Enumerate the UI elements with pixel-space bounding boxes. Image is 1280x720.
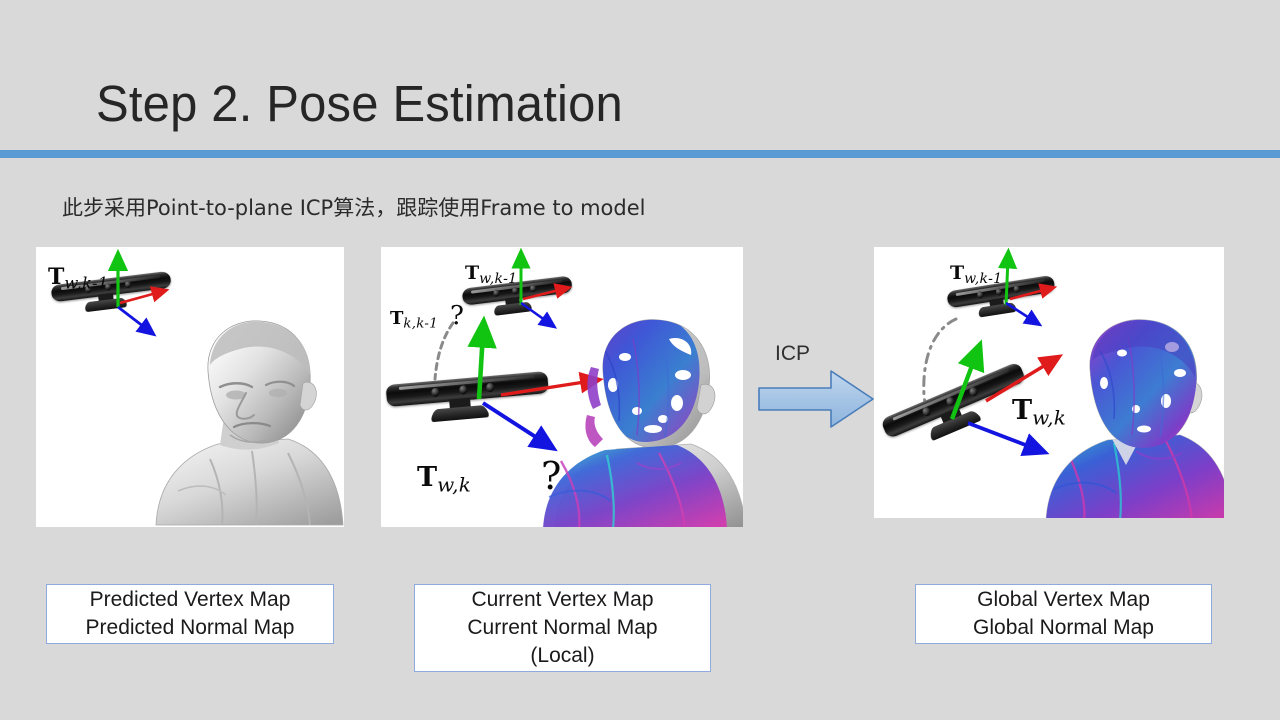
icp-block-arrow (757, 368, 875, 430)
caption-line: Global Normal Map (973, 614, 1154, 642)
transform-subscript: w,k-1 (479, 271, 517, 287)
caption-current-map: Current Vertex Map Current Normal Map (L… (414, 584, 711, 672)
transform-label-wk1: Tw,k-1 (465, 264, 517, 286)
transform-symbol: T (465, 262, 479, 284)
caption-predicted-map: Predicted Vertex Map Predicted Normal Ma… (46, 584, 334, 644)
caption-line: (Local) (530, 642, 594, 670)
caption-line: Predicted Vertex Map (90, 586, 291, 614)
transform-label-wk: Tw,k (417, 464, 471, 495)
caption-line: Current Normal Map (467, 614, 657, 642)
bust-mesh-normalmap-misaligned (541, 311, 743, 527)
bust-mesh-normalmap-aligned (1040, 313, 1224, 518)
transform-label-wk1: Tw,k-1 (950, 264, 1002, 286)
title-divider-rule (0, 150, 1280, 158)
bust-mesh-gray (148, 313, 344, 525)
transform-subscript: w,k (437, 473, 471, 497)
transform-symbol: T (950, 262, 964, 284)
slide-canvas: Step 2. Pose Estimation 此步采用Point-to-pla… (0, 0, 1280, 720)
transform-symbol: T (390, 308, 403, 329)
caption-line: Global Vertex Map (977, 586, 1150, 614)
panel-global-map: Tw,k-1 (874, 247, 1224, 518)
transform-symbol: T (48, 264, 64, 290)
caption-line: Predicted Normal Map (86, 614, 295, 642)
transform-subscript: w,k-1 (64, 274, 108, 293)
panel-predicted-map: Tw,k-1 (36, 247, 344, 527)
transform-symbol: T (1012, 395, 1032, 426)
transform-label-wk1: Tw,k-1 (48, 266, 108, 292)
page-title: Step 2. Pose Estimation (96, 74, 623, 133)
transform-subscript: w,k-1 (964, 271, 1002, 287)
transform-symbol: T (417, 462, 437, 493)
caption-line: Current Vertex Map (471, 586, 653, 614)
panel-current-map: Tw,k-1 Tk,k-1 ? (381, 247, 743, 527)
icp-label: ICP (775, 342, 810, 366)
caption-global-map: Global Vertex Map Global Normal Map (915, 584, 1212, 644)
subtitle-text: 此步采用Point-to-plane ICP算法，跟踪使用Frame to mo… (62, 192, 645, 222)
